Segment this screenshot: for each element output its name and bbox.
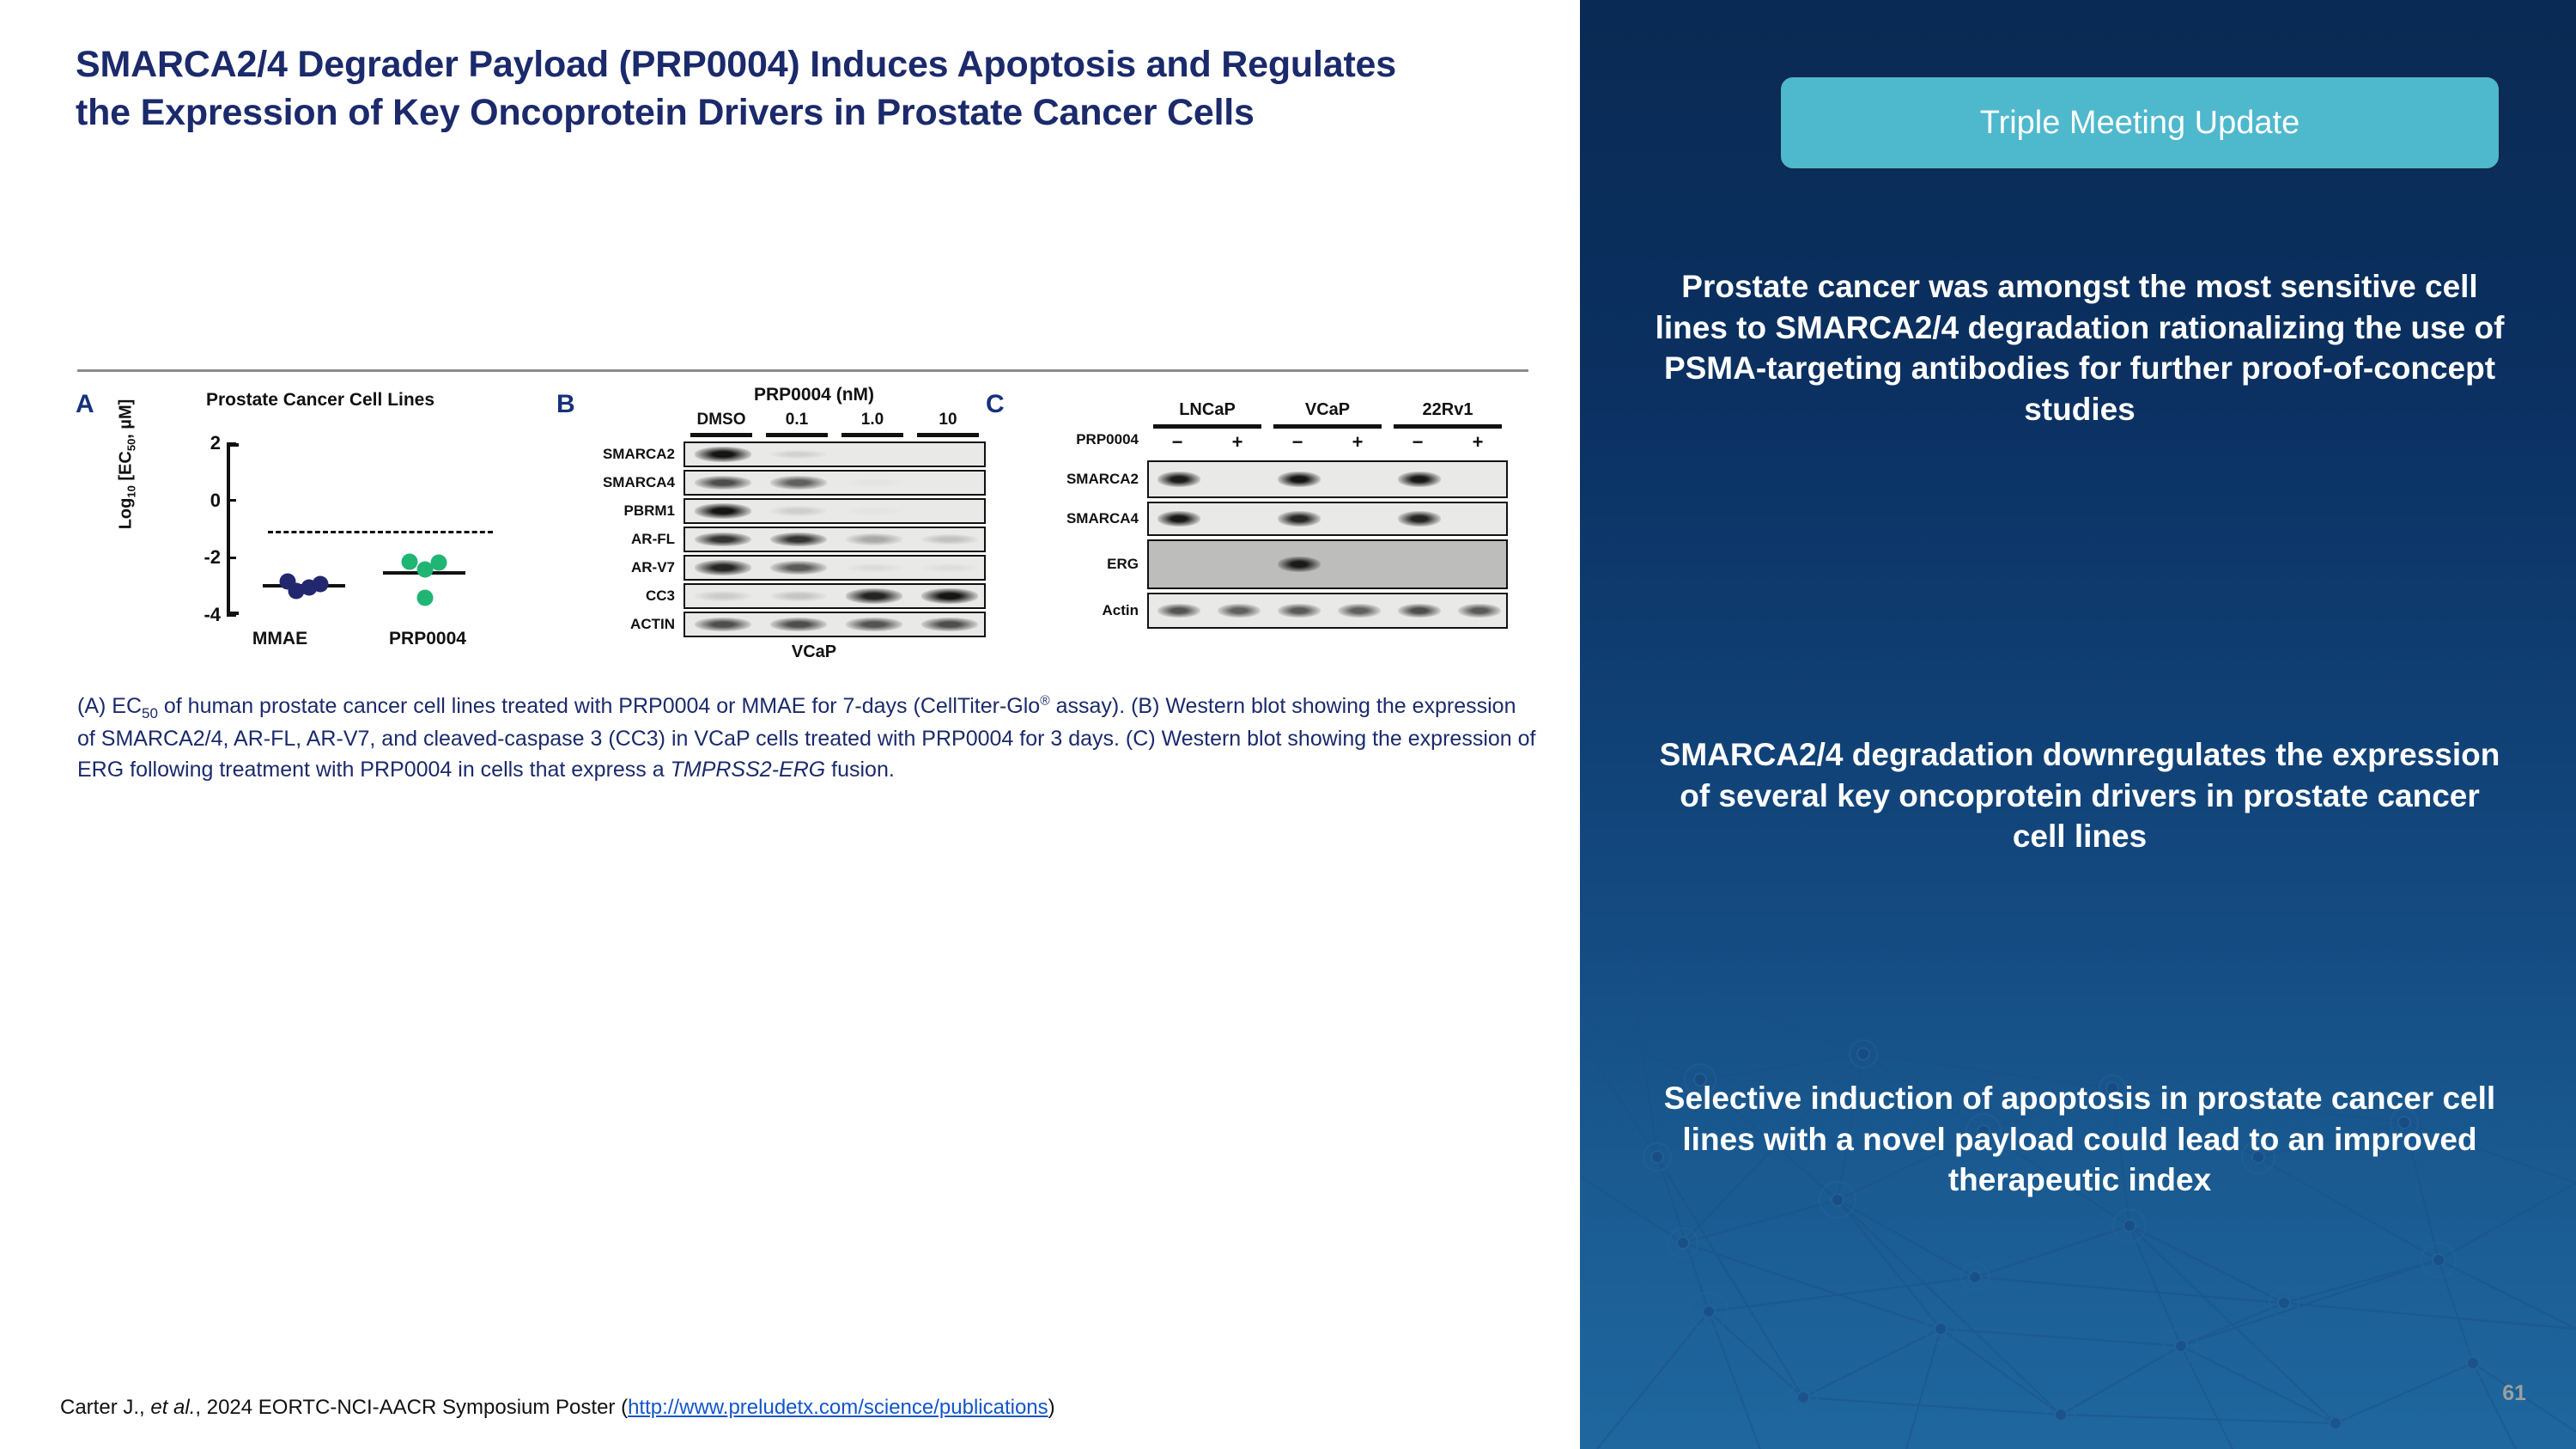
blot-band — [770, 561, 828, 575]
panel-b-blot-row — [683, 470, 986, 496]
panel-b-blot-row — [683, 583, 986, 609]
panel-c-row-label: ERG — [986, 556, 1139, 573]
blot-band — [1157, 472, 1200, 487]
panel-c-blot-row — [1147, 593, 1508, 629]
blot-band — [1157, 604, 1200, 618]
blot-band — [846, 563, 903, 572]
blot-band — [770, 618, 828, 631]
panel-b-letter: B — [556, 390, 575, 419]
panel-b-row-label: PBRM1 — [556, 502, 675, 520]
panel-a-group-label-mmae: MMAE — [252, 629, 307, 649]
panel-b-row-label: AR-FL — [556, 531, 675, 548]
blot-band — [695, 476, 752, 490]
blot-band — [770, 506, 828, 515]
blot-band — [770, 450, 828, 460]
panel-c-row-label: Actin — [986, 602, 1139, 619]
panel-a-data-point — [313, 576, 329, 593]
citation-middle: , 2024 EORTC-NCI-AACR Symposium Poster ( — [195, 1396, 628, 1419]
blot-band — [921, 588, 979, 604]
caption-a-pre: (A) EC — [77, 694, 142, 718]
summary-bullet-3: Selective induction of apoptosis in pros… — [1650, 1078, 2509, 1201]
blot-band — [1278, 472, 1321, 487]
summary-panel: Triple Meeting Update Prostate cancer wa… — [1580, 0, 2576, 1449]
summary-bullet-1: Prostate cancer was amongst the most sen… — [1650, 266, 2509, 430]
blot-band — [846, 507, 903, 515]
blot-band — [1278, 557, 1321, 572]
panel-b-lane-header: 1.0 — [861, 411, 884, 429]
panel-b-footer-label: VCaP — [792, 642, 836, 662]
panel-c-treatment-sign: − — [1292, 431, 1303, 454]
panel-b-blot-row — [683, 527, 986, 552]
blot-band — [695, 618, 752, 631]
panel-b-row-label: CC3 — [556, 588, 675, 605]
footer-citation: Carter J., et al., 2024 EORTC-NCI-AACR S… — [60, 1396, 1537, 1420]
blot-band — [921, 563, 979, 572]
horizontal-divider — [77, 369, 1528, 372]
blot-band — [770, 476, 828, 490]
panel-a-tick-3 — [227, 614, 236, 617]
blot-band — [695, 591, 752, 600]
blot-band — [1398, 604, 1441, 618]
blot-band — [1157, 511, 1200, 527]
caption-b-end: fusion. — [825, 758, 895, 782]
panel-a-tick-label-1: 0 — [210, 490, 221, 512]
panel-a-tick-0 — [227, 442, 236, 445]
blot-band — [846, 478, 903, 487]
panel-b-blot-row — [683, 612, 986, 637]
blot-band — [1398, 511, 1441, 526]
panel-c-treatment-sign: − — [1172, 431, 1183, 454]
citation-etal: et al. — [150, 1396, 195, 1419]
blot-band — [1458, 604, 1501, 618]
panel-a-title: Prostate Cancer Cell Lines — [204, 390, 436, 411]
panel-b-blot-row — [683, 441, 986, 467]
panel-a-tick-label-0: 2 — [210, 432, 221, 454]
badge-label: Triple Meeting Update — [1980, 105, 2300, 142]
blot-band — [770, 591, 828, 601]
panel-a-y-axis — [227, 443, 230, 615]
panel-c-blot-row — [1147, 502, 1508, 536]
panel-b-blot-row — [683, 555, 986, 581]
panel-a-letter: A — [76, 390, 94, 419]
page-number: 61 — [2502, 1381, 2526, 1406]
figure-caption: (A) EC50 of human prostate cancer cell l… — [77, 691, 1537, 785]
panel-c-group-rule — [1394, 424, 1502, 429]
panel-b-lane-header: 10 — [939, 411, 957, 429]
panel-a-data-point — [402, 554, 418, 570]
slide-content-pane: SMARCA2/4 Degrader Payload (PRP0004) Ind… — [0, 0, 1580, 1449]
blot-band — [695, 503, 752, 519]
blot-band — [1218, 604, 1261, 618]
caption-b-italic-gene: TMPRSS2-ERG — [671, 758, 826, 782]
panel-c-group-header: LNCaP — [1179, 400, 1236, 420]
panel-b-lane-rule — [917, 433, 979, 437]
blot-band — [1278, 511, 1321, 526]
panel-a-tick-2 — [227, 557, 236, 559]
panel-a-y-axis-label: Log10 [EC50, µM] — [117, 379, 138, 551]
caption-a-end: assay). — [1050, 694, 1126, 718]
blot-band — [1338, 604, 1381, 618]
blot-band — [695, 533, 752, 547]
caption-a-superscript: ® — [1040, 694, 1049, 709]
panel-c-treatment-sign: + — [1232, 431, 1243, 454]
figure-container: A Prostate Cancer Cell Lines Log10 [EC50… — [76, 385, 1535, 668]
summary-bullet-2: SMARCA2/4 degradation downregulates the … — [1650, 734, 2509, 857]
blot-band — [921, 534, 979, 545]
caption-a-subscript: 50 — [142, 705, 158, 721]
panel-c-group-header: 22Rv1 — [1423, 400, 1473, 420]
panel-b-blot-row — [683, 498, 986, 524]
panel-c-treatment-sign: + — [1473, 431, 1484, 454]
blot-band — [695, 447, 752, 462]
panel-b-lane-rule — [766, 433, 828, 437]
panel-c-group-rule — [1153, 424, 1261, 429]
meeting-update-badge[interactable]: Triple Meeting Update — [1779, 76, 2500, 170]
panel-c-row-label: SMARCA2 — [986, 471, 1139, 488]
panel-c-group-header: VCaP — [1305, 400, 1350, 420]
panel-a-group-label-prp0004: PRP0004 — [389, 629, 466, 649]
panel-c-treatment-sign: − — [1413, 431, 1424, 454]
panel-c-row-label: SMARCA4 — [986, 510, 1139, 527]
blot-band — [770, 533, 828, 547]
citation-authors: Carter J., — [60, 1396, 150, 1419]
panel-a-tick-label-3: -4 — [204, 604, 221, 626]
page-title: SMARCA2/4 Degrader Payload (PRP0004) Ind… — [76, 41, 1449, 137]
citation-link[interactable]: http://www.preludetx.com/science/publica… — [628, 1396, 1048, 1419]
blot-band — [1278, 604, 1321, 618]
panel-a-scatter-chart: A Prostate Cancer Cell Lines Log10 [EC50… — [76, 385, 556, 668]
panel-c-treatment-sign: + — [1352, 431, 1364, 454]
panel-a-tick-label-2: -2 — [204, 546, 221, 569]
panel-b-row-label: ACTIN — [556, 616, 675, 633]
panel-a-data-point — [417, 590, 434, 606]
panel-c-group-rule — [1273, 424, 1382, 429]
panel-b-title: PRP0004 (nM) — [659, 385, 969, 405]
panel-a-data-point — [417, 562, 434, 578]
panel-b-row-label: SMARCA2 — [556, 446, 675, 463]
panel-c-treatment-label: PRP0004 — [986, 431, 1139, 448]
blot-band — [695, 560, 752, 575]
panel-a-tick-1 — [227, 499, 236, 502]
citation-suffix: ) — [1048, 1396, 1055, 1419]
panel-c-letter: C — [986, 390, 1005, 419]
blot-band — [846, 618, 903, 631]
panel-a-reference-line — [268, 531, 493, 533]
blot-band — [1398, 472, 1441, 487]
caption-a-post: of human prostate cancer cell lines trea… — [158, 694, 1040, 718]
panel-b-row-label: SMARCA4 — [556, 474, 675, 491]
blot-band — [846, 588, 903, 603]
panel-b-row-label: AR-V7 — [556, 559, 675, 576]
blot-band — [846, 533, 903, 545]
panel-b-western-blot: B PRP0004 (nM) DMSO0.11.010 SMARCA2SMARC… — [556, 385, 994, 668]
panel-b-lane-header: DMSO — [697, 411, 746, 429]
panel-b-lane-header: 0.1 — [786, 411, 808, 429]
panel-b-lane-rule — [690, 433, 752, 437]
panel-a-plot-area: 20-2-4 — [227, 443, 493, 615]
panel-c-blot-row — [1147, 460, 1508, 498]
blot-band — [921, 618, 979, 631]
panel-b-lane-rule — [841, 433, 903, 437]
panel-c-western-blot: C LNCaPVCaP22Rv1 PRP0004 −+−+−+ SMARCA2S… — [986, 385, 1535, 668]
panel-c-blot-row — [1147, 539, 1508, 589]
